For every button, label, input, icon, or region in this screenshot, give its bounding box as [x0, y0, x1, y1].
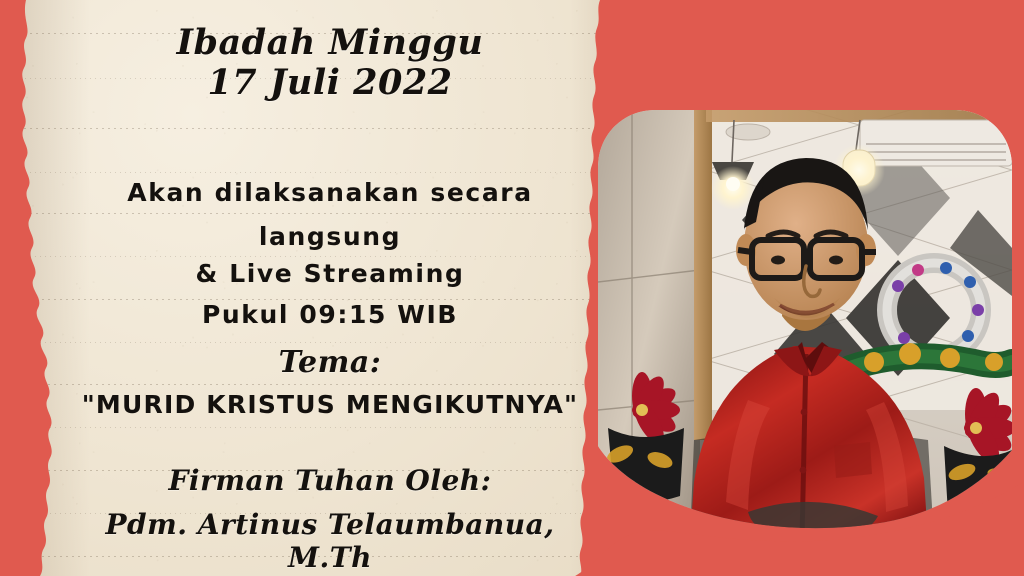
body-line-2: langsung	[70, 222, 590, 251]
body-line-1: Akan dilaksanakan secara	[70, 178, 590, 207]
body-line-3: & Live Streaming	[70, 259, 590, 288]
announcement-text-block: Ibadah Minggu 17 Juli 2022 Akan dilaksan…	[70, 0, 590, 576]
speaker-name: Pdm. Artinus Telaumbanua, M.Th	[70, 508, 590, 574]
title-line-1: Ibadah Minggu	[70, 24, 590, 62]
theme-label: Tema:	[70, 345, 590, 380]
title-line-2: 17 Juli 2022	[70, 64, 590, 102]
speaker-portrait-photo	[598, 110, 1012, 540]
service-time: Pukul 09:15 WIB	[70, 300, 590, 329]
theme-value: "MURID KRISTUS MENGIKUTNYA"	[70, 390, 590, 419]
poster-canvas: Ibadah Minggu 17 Juli 2022 Akan dilaksan…	[0, 0, 1024, 576]
speaker-label: Firman Tuhan Oleh:	[70, 464, 590, 497]
